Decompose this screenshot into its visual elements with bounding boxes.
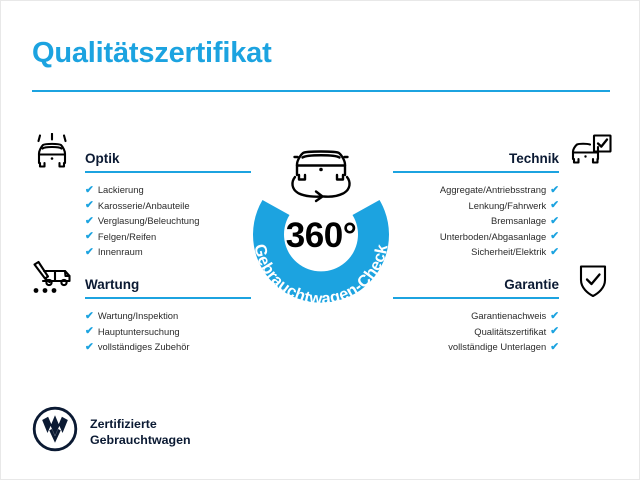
section-header: Optik	[85, 143, 251, 173]
badge-360-gebrauchtwagen-check: Gebrauchtwagen-Check 360°	[233, 119, 409, 315]
check-icon: ✔	[550, 326, 559, 337]
list-item: ✔Felgen/Reifen	[85, 229, 251, 245]
footer-label: Zertifizierte Gebrauchtwagen	[90, 416, 191, 448]
section-header: Wartung	[85, 269, 251, 299]
check-icon: ✔	[85, 326, 94, 337]
check-icon: ✔	[85, 311, 94, 322]
check-icon: ✔	[550, 231, 559, 242]
section-garantie: Garantie Garantienachweis✔ Qualitätszert…	[393, 269, 559, 355]
list-item-label: Innenraum	[98, 244, 143, 260]
list-item: Sicherheit/Elektrik✔	[393, 244, 559, 260]
section-header: Garantie	[393, 269, 559, 299]
list-item-label: Karosserie/Anbauteile	[98, 198, 190, 214]
footer-brand: Zertifizierte Gebrauchtwagen	[32, 406, 191, 457]
check-icon: ✔	[550, 185, 559, 196]
check-icon: ✔	[550, 200, 559, 211]
list-item: Unterboden/Abgasanlage✔	[393, 229, 559, 245]
check-icon: ✔	[85, 216, 94, 227]
page-title: Qualitätszertifikat	[32, 37, 272, 70]
title-divider	[32, 90, 610, 92]
section-divider	[393, 171, 559, 173]
list-item: Aggregate/Antriebsstrang✔	[393, 182, 559, 198]
list-item-label: Verglasung/Beleuchtung	[98, 213, 200, 229]
section-title-optik: Optik	[85, 151, 120, 166]
list-item-label: Aggregate/Antriebsstrang	[440, 182, 546, 198]
section-divider	[85, 171, 251, 173]
section-title-garantie: Garantie	[504, 277, 559, 292]
section-header: Technik	[393, 143, 559, 173]
list-item: ✔Karosserie/Anbauteile	[85, 198, 251, 214]
list-item-label: Hauptuntersuchung	[98, 324, 180, 340]
check-icon: ✔	[550, 311, 559, 322]
checklist-wartung: ✔Wartung/Inspektion ✔Hauptuntersuchung ✔…	[85, 308, 251, 355]
list-item: vollständige Unterlagen✔	[393, 339, 559, 355]
list-item-label: Felgen/Reifen	[98, 229, 156, 245]
list-item: ✔Lackierung	[85, 182, 251, 198]
list-item: ✔Innenraum	[85, 244, 251, 260]
list-item: Qualitätszertifikat✔	[393, 324, 559, 340]
section-title-technik: Technik	[509, 151, 559, 166]
list-item: Lenkung/Fahrwerk✔	[393, 198, 559, 214]
list-item: ✔Wartung/Inspektion	[85, 308, 251, 324]
list-item: Bremsanlage✔	[393, 213, 559, 229]
list-item-label: Lackierung	[98, 182, 144, 198]
car-rotate-360-icon	[292, 152, 349, 202]
check-icon: ✔	[550, 216, 559, 227]
list-item-label: Garantienachweis	[471, 308, 546, 324]
check-icon: ✔	[85, 342, 94, 353]
checklist-optik: ✔Lackierung ✔Karosserie/Anbauteile ✔Verg…	[85, 182, 251, 260]
list-item-label: Sicherheit/Elektrik	[471, 244, 546, 260]
list-item: ✔Hauptuntersuchung	[85, 324, 251, 340]
list-item-label: Wartung/Inspektion	[98, 308, 178, 324]
list-item: ✔Verglasung/Beleuchtung	[85, 213, 251, 229]
certificate-page: Qualitätszertifikat	[0, 0, 640, 480]
checklist-garantie: Garantienachweis✔ Qualitätszertifikat✔ v…	[393, 308, 559, 355]
checklist-technik: Aggregate/Antriebsstrang✔ Lenkung/Fahrwe…	[393, 182, 559, 260]
list-item: ✔vollständiges Zubehör	[85, 339, 251, 355]
section-divider	[85, 297, 251, 299]
shield-check-icon	[573, 261, 617, 301]
list-item-label: Lenkung/Fahrwerk	[469, 198, 547, 214]
section-technik: Technik Aggregate/Antriebsstrang✔ Lenkun…	[393, 143, 559, 260]
check-icon: ✔	[85, 200, 94, 211]
list-item: Garantienachweis✔	[393, 308, 559, 324]
check-icon: ✔	[550, 342, 559, 353]
screwdriver-car-icon	[29, 260, 73, 300]
section-wartung: Wartung ✔Wartung/Inspektion ✔Hauptunters…	[85, 269, 251, 355]
list-item-label: Unterboden/Abgasanlage	[440, 229, 546, 245]
section-optik: Optik ✔Lackierung ✔Karosserie/Anbauteile…	[85, 143, 251, 260]
check-icon: ✔	[85, 247, 94, 258]
section-title-wartung: Wartung	[85, 277, 139, 292]
list-item-label: vollständige Unterlagen	[448, 339, 546, 355]
list-item-label: vollständiges Zubehör	[98, 339, 190, 355]
list-item-label: Qualitätszertifikat	[474, 324, 546, 340]
check-icon: ✔	[85, 185, 94, 196]
volkswagen-logo	[32, 406, 78, 457]
check-icon: ✔	[85, 231, 94, 242]
badge-center-label: 360°	[286, 216, 356, 255]
car-checkbox-icon	[569, 133, 613, 173]
car-shine-icon	[31, 133, 75, 173]
check-icon: ✔	[550, 247, 559, 258]
section-divider	[393, 297, 559, 299]
list-item-label: Bremsanlage	[491, 213, 546, 229]
